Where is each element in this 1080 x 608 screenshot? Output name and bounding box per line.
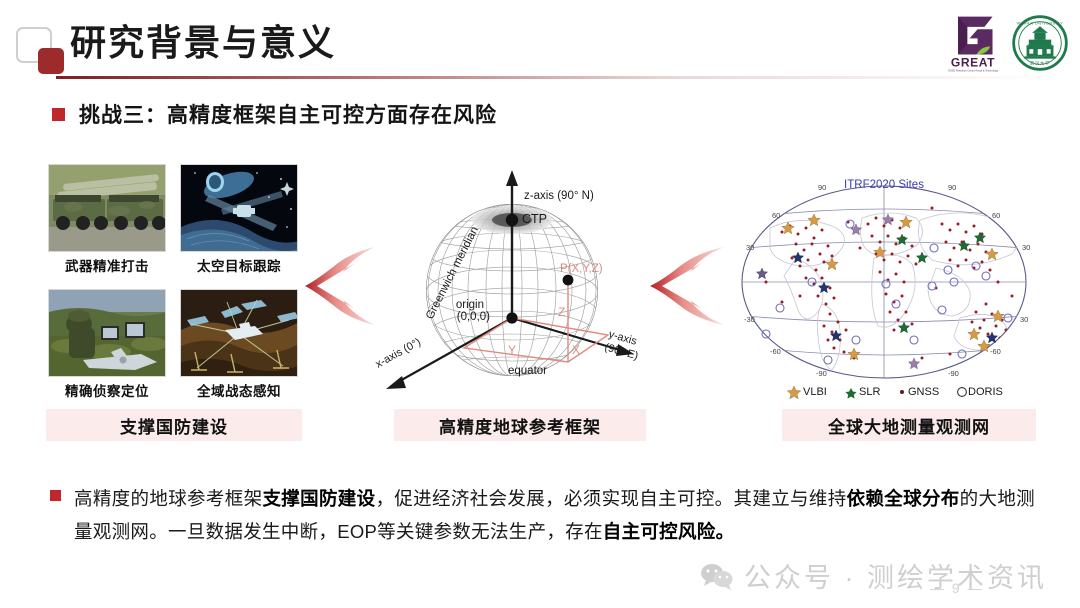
svg-text:30: 30 xyxy=(746,243,754,252)
svg-text:CTP: CTP xyxy=(522,212,547,226)
watermark-text: 公众号 · 测绘学术资讯 xyxy=(744,556,1047,595)
legend-label-doris: DORIS xyxy=(968,386,1003,398)
svg-text:origin: origin xyxy=(456,299,484,311)
logo-group: GREAT GNSS Research Centre Ansys & Techn… xyxy=(944,12,1068,74)
slide-root: 研究背景与意义 GREAT GNSS Research Centre Ansys… xyxy=(0,0,1080,608)
para-seg: ，促进经济社会发展，必须实现自主可控。其建立与维持 xyxy=(376,488,847,509)
photo-grid: 武器精准打击 xyxy=(48,164,298,400)
subtitle-row: 挑战三：高精度框架自主可控方面存在风险 xyxy=(52,99,497,129)
watermark: 公众号 · 测绘学术资讯 xyxy=(700,556,1047,595)
title-decoration-square xyxy=(38,48,64,74)
svg-text:90: 90 xyxy=(948,183,956,192)
great-logo: GREAT GNSS Research Centre Ansys & Techn… xyxy=(944,12,1002,74)
banner-text: 全球大地测量观测网 xyxy=(828,413,990,438)
svg-text:WUHAN UNIVERSITY: WUHAN UNIVERSITY xyxy=(1017,22,1064,26)
banner-reference-frame: 高精度地球参考框架 xyxy=(394,409,646,441)
legend-label-vlbi: VLBI xyxy=(803,386,827,398)
legend-label-slr: SLR xyxy=(859,386,880,398)
para-seg: 支撑国防建设 xyxy=(262,488,375,509)
svg-text:30: 30 xyxy=(1022,243,1030,252)
para-seg: 高精度的地球参考框架 xyxy=(74,488,262,509)
para-seg: 自主可控风险。 xyxy=(603,521,735,542)
svg-text:-30: -30 xyxy=(744,315,755,324)
arrow-map-to-globe xyxy=(648,243,724,334)
svg-text:-60: -60 xyxy=(990,347,1001,356)
para-seg: 依赖全球分布 xyxy=(847,488,960,509)
photo-missile-launcher-image xyxy=(48,164,166,252)
svg-text:GREAT: GREAT xyxy=(951,56,995,70)
bullet-square-icon xyxy=(50,490,61,501)
page-number: — 9 — xyxy=(930,580,984,596)
banner-text: 高精度地球参考框架 xyxy=(439,413,601,438)
title-divider-rule xyxy=(56,76,1056,79)
banner-text: 支撑国防建设 xyxy=(120,413,228,438)
svg-text:90: 90 xyxy=(818,183,826,192)
summary-paragraph-row: 高精度的地球参考框架支撑国防建设，促进经济社会发展，必须实现自主可控。其建立与维… xyxy=(50,482,1035,548)
photo-space-tracking-image xyxy=(180,164,298,252)
photo-battlefield-network-image xyxy=(180,289,298,377)
bullet-square-icon xyxy=(52,108,65,121)
map-title: ITRF2020 Sites xyxy=(844,179,924,191)
wechat-icon xyxy=(700,562,734,590)
svg-text:P(X,Y,Z): P(X,Y,Z) xyxy=(560,263,603,275)
svg-text:GNSS Research Centre Ansys & T: GNSS Research Centre Ansys & Technology xyxy=(948,70,999,73)
photo-cell-weapon-strike: 武器精准打击 xyxy=(48,164,166,275)
arrow-photos-to-globe xyxy=(303,243,375,334)
svg-text:60: 60 xyxy=(992,211,1000,220)
svg-text:Y: Y xyxy=(508,343,516,357)
svg-text:武汉大学: 武汉大学 xyxy=(1030,59,1050,66)
svg-text:30: 30 xyxy=(1020,315,1028,324)
svg-text:-90: -90 xyxy=(816,369,827,378)
photo-caption: 全域战态感知 xyxy=(180,380,298,400)
photo-caption: 太空目标跟踪 xyxy=(180,255,298,275)
wuhan-university-seal: WUHAN UNIVERSITY 武汉大学 xyxy=(1012,15,1068,71)
svg-text:60: 60 xyxy=(772,211,780,220)
legend-label-gnss: GNSS xyxy=(908,386,939,398)
svg-text:-90: -90 xyxy=(948,369,959,378)
svg-text:X: X xyxy=(572,343,580,357)
svg-text:-60: -60 xyxy=(770,347,781,356)
photo-cell-space-tracking: 太空目标跟踪 xyxy=(180,164,298,275)
photo-caption: 武器精准打击 xyxy=(48,255,166,275)
svg-text:z-axis (90° N): z-axis (90° N) xyxy=(524,190,594,202)
banner-national-defense: 支撑国防建设 xyxy=(46,409,302,441)
svg-text:(0,0,0): (0,0,0) xyxy=(457,311,490,323)
itrf2020-sites-map: ITRF2020 Sites 90 90 60 60 30 30 -30 30 … xyxy=(736,162,1032,400)
svg-text:x-axis (0°): x-axis (0°) xyxy=(374,336,423,371)
photo-caption: 精确侦察定位 xyxy=(48,380,166,400)
svg-text:Z: Z xyxy=(558,305,565,319)
earth-reference-frame-diagram: z-axis (90° N) CTP origin (0,0,0) equato… xyxy=(372,168,644,398)
banner-global-network: 全球大地测量观测网 xyxy=(782,409,1036,441)
photo-recon-drone-image xyxy=(48,289,166,377)
page-title: 研究背景与意义 xyxy=(70,20,336,66)
subtitle-text: 挑战三：高精度框架自主可控方面存在风险 xyxy=(79,99,497,129)
summary-paragraph: 高精度的地球参考框架支撑国防建设，促进经济社会发展，必须实现自主可控。其建立与维… xyxy=(74,482,1035,548)
photo-cell-recon-positioning: 精确侦察定位 xyxy=(48,289,166,400)
photo-cell-battlefield-awareness: 全域战态感知 xyxy=(180,289,298,400)
svg-text:equator: equator xyxy=(508,365,547,377)
